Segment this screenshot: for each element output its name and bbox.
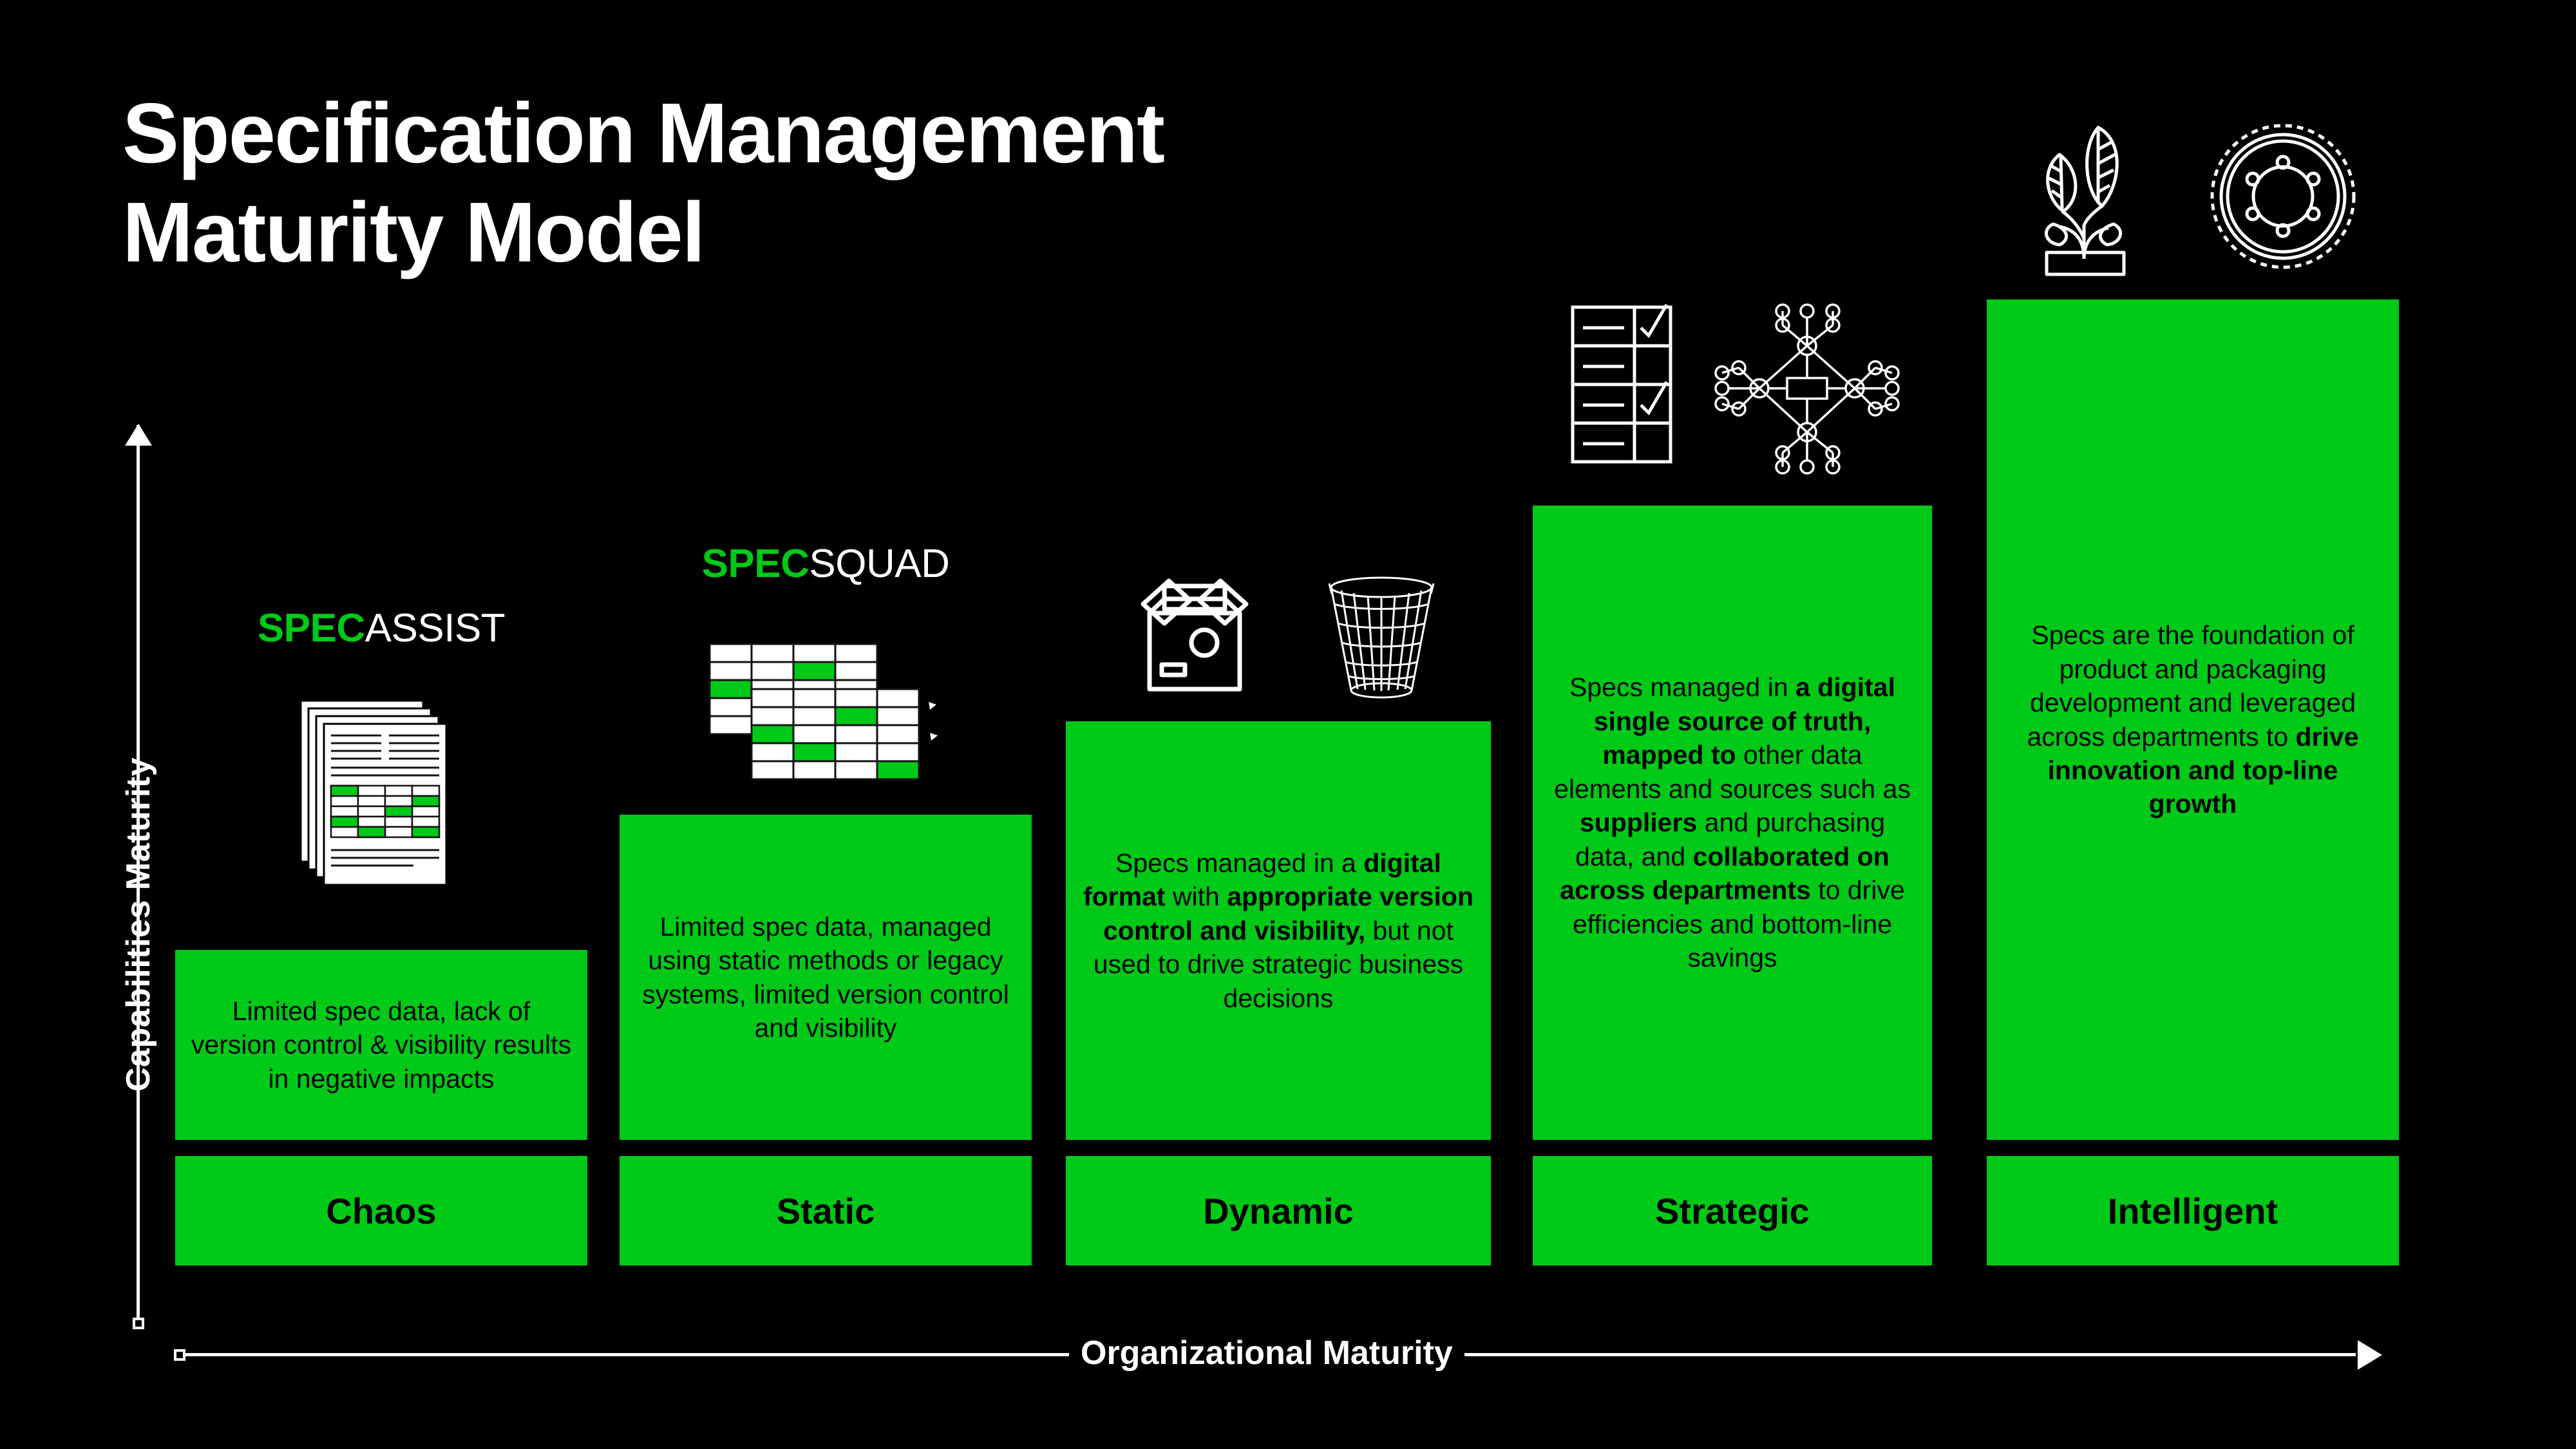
bar-description-intelligent: Specs are the foundation of product and …	[1987, 618, 2399, 821]
bar-static: Limited spec data, managed using static …	[620, 815, 1032, 1140]
stage-column-static: SPECSQUAD	[620, 541, 1032, 1140]
stage-label-intelligent: Intelligent	[1987, 1156, 2399, 1265]
y-axis-label: Capabilities Maturity	[119, 757, 158, 1092]
bar-description-dynamic: Specs managed in a digital format with a…	[1066, 846, 1491, 1015]
maturity-model-infographic: Specification Management Maturity Model …	[0, 0, 2576, 1449]
potted-plant-icon	[2022, 116, 2157, 277]
stage-column-chaos: SPECASSIST	[175, 605, 587, 1140]
stage-column-strategic: Specs managed in a digital single source…	[1533, 287, 1932, 1140]
bar-chaos: Limited spec data, lack of version contr…	[175, 950, 587, 1140]
bar-description-static: Limited spec data, managed using static …	[620, 910, 1032, 1045]
icon-group-strategic	[1533, 287, 1932, 473]
bar-description-strategic: Specs managed in a digital single source…	[1533, 670, 1932, 974]
stage-label-text: Static	[777, 1190, 875, 1232]
spreadsheet-grid-icon	[703, 638, 948, 799]
open-box-icon	[1114, 573, 1275, 702]
brand-suffix: SQUAD	[809, 542, 949, 586]
brand-prefix: SPEC	[258, 606, 365, 650]
checklist-table-icon	[1565, 299, 1681, 473]
bar-intelligent: Specs are the foundation of product and …	[1987, 299, 2399, 1140]
network-nodes-icon	[1713, 306, 1900, 473]
stage-label-static: Static	[620, 1156, 1032, 1265]
brand-prefix: SPEC	[702, 542, 810, 586]
x-axis-origin-marker	[174, 1349, 185, 1361]
stage-label-dynamic: Dynamic	[1066, 1156, 1491, 1265]
stage-label-text: Chaos	[326, 1190, 436, 1232]
gear-icon	[2202, 116, 2363, 277]
stacked-documents-icon	[285, 696, 478, 902]
brand-logo-specsquad: SPECSQUAD	[620, 541, 1032, 587]
icon-group-intelligent	[1987, 84, 2399, 277]
icon-group-chaos	[175, 689, 587, 902]
icon-group-dynamic	[1066, 541, 1491, 702]
stage-label-text: Strategic	[1655, 1190, 1810, 1232]
x-axis: Organizational Maturity	[174, 1336, 2380, 1375]
y-axis: Capabilities Maturity	[119, 425, 158, 1327]
bar-strategic: Specs managed in a digital single source…	[1533, 506, 1932, 1140]
stage-label-chaos: Chaos	[175, 1156, 587, 1265]
x-axis-label: Organizational Maturity	[1069, 1334, 1464, 1372]
y-axis-origin-marker	[133, 1318, 144, 1329]
bar-dynamic: Specs managed in a digital format with a…	[1066, 721, 1491, 1140]
stage-column-dynamic: Specs managed in a digital format with a…	[1066, 541, 1491, 1140]
stage-label-text: Intelligent	[2108, 1190, 2278, 1232]
page-title: Specification Management Maturity Model	[122, 84, 1164, 283]
icon-group-static	[620, 618, 1032, 799]
y-axis-arrow-icon	[125, 424, 152, 446]
stage-label-strategic: Strategic	[1533, 1156, 1932, 1265]
brand-logo-specassist: SPECASSIST	[175, 605, 587, 651]
wireframe-cup-icon	[1320, 573, 1443, 702]
stage-label-text: Dynamic	[1203, 1190, 1353, 1232]
bar-description-chaos: Limited spec data, lack of version contr…	[175, 994, 587, 1095]
x-axis-arrow-icon	[2358, 1340, 2382, 1370]
stage-column-intelligent: Specs are the foundation of product and …	[1987, 84, 2399, 1140]
brand-suffix: ASSIST	[365, 606, 506, 650]
